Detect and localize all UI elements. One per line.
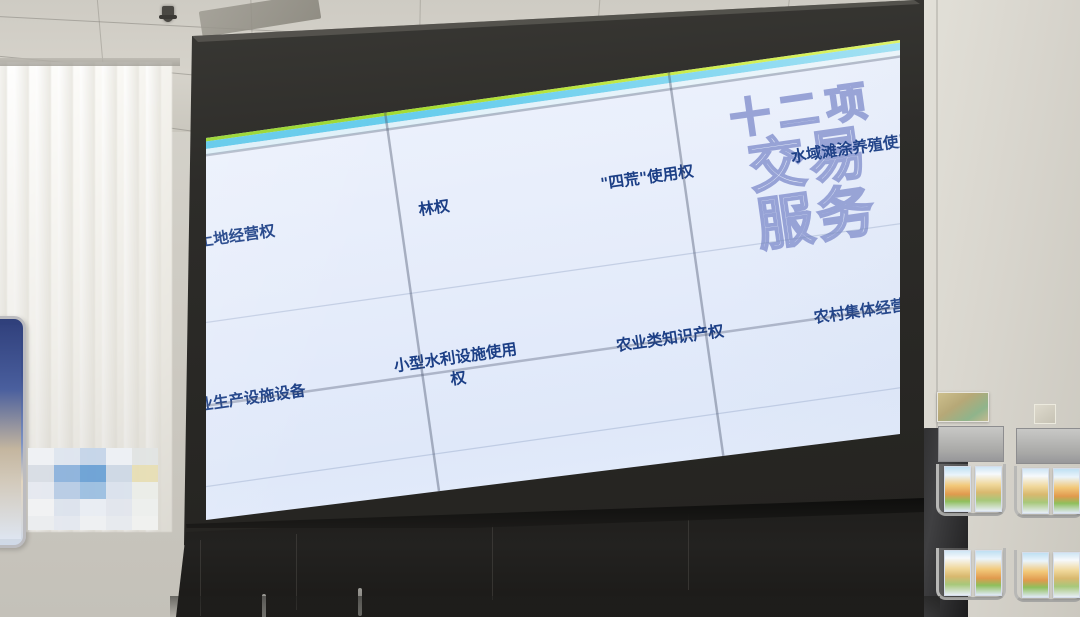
brochure-display-rack[interactable]	[936, 424, 1080, 617]
wall-switch-plate	[1034, 404, 1056, 424]
table-cell: 农业类知识产权	[552, 244, 788, 434]
video-wall-unit: 二、平台基本功能 山东农村产权交易中心滕州市服务中心 Shandong Rura…	[176, 0, 924, 617]
poster-standee	[0, 316, 26, 548]
floor-shadow	[170, 596, 940, 617]
table-cell: 农业生产设施设备	[206, 304, 362, 494]
cell-label: 农业生产设施设备	[206, 380, 307, 418]
leaflet[interactable]	[975, 466, 1002, 512]
leaflet[interactable]	[944, 550, 971, 596]
cell-label: 小型水利设施使用权	[388, 339, 526, 399]
table-cell: 农村土地经营权	[206, 143, 339, 333]
blind-rail	[0, 58, 180, 66]
table-cell: 农村集体经营性资产	[765, 213, 900, 403]
leaflet[interactable]	[1022, 468, 1049, 514]
cell-label: "四荒"使用权	[599, 161, 695, 195]
table-cell: 水域滩涂养殖使用权	[742, 52, 900, 242]
cell-label: 农村土地经营权	[206, 220, 276, 256]
leaflet[interactable]	[975, 550, 1002, 596]
table-cell: "四荒"使用权	[529, 83, 765, 273]
cell-label: 农村集体经营性资产	[812, 288, 900, 328]
leaflet[interactable]	[944, 466, 971, 512]
leaflet[interactable]	[1053, 468, 1080, 514]
fire-sprinkler-icon	[162, 6, 174, 22]
cell-label: 农业类知识产权	[615, 320, 725, 356]
table-cell: 小型水利设施使用权	[339, 274, 575, 464]
cell-label: 水域滩涂养殖使用权	[790, 127, 900, 167]
room-scene: 二、平台基本功能 山东农村产权交易中心滕州市服务中心 Shandong Rura…	[0, 0, 1080, 617]
table-cell: 林权	[316, 113, 552, 303]
leaflet[interactable]	[1022, 552, 1049, 598]
leaflet[interactable]	[1053, 552, 1080, 598]
wall-plaque-sign	[937, 392, 989, 422]
cell-label: 林权	[417, 195, 451, 220]
pixelated-censor-region	[28, 448, 158, 530]
